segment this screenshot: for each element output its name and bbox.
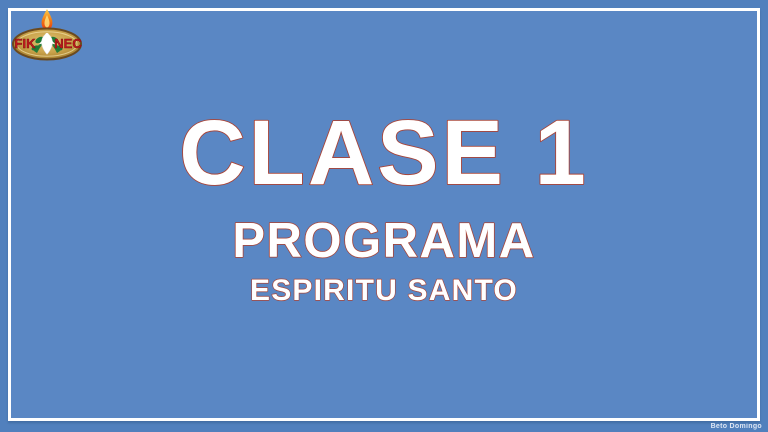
- slide-canvas: [11, 11, 757, 418]
- emblem-right-text: NEC: [54, 36, 82, 51]
- fik-nec-logo: FIK NEC: [8, 7, 86, 65]
- emblem-left-text: FIK: [15, 36, 37, 51]
- presentation-slide: FIK NEC CLASE 1 PROGRAMA ESPIRITU SANTO …: [0, 0, 768, 432]
- fik-nec-emblem-icon: FIK NEC: [8, 7, 86, 65]
- author-watermark: Beto Domingo: [711, 423, 762, 430]
